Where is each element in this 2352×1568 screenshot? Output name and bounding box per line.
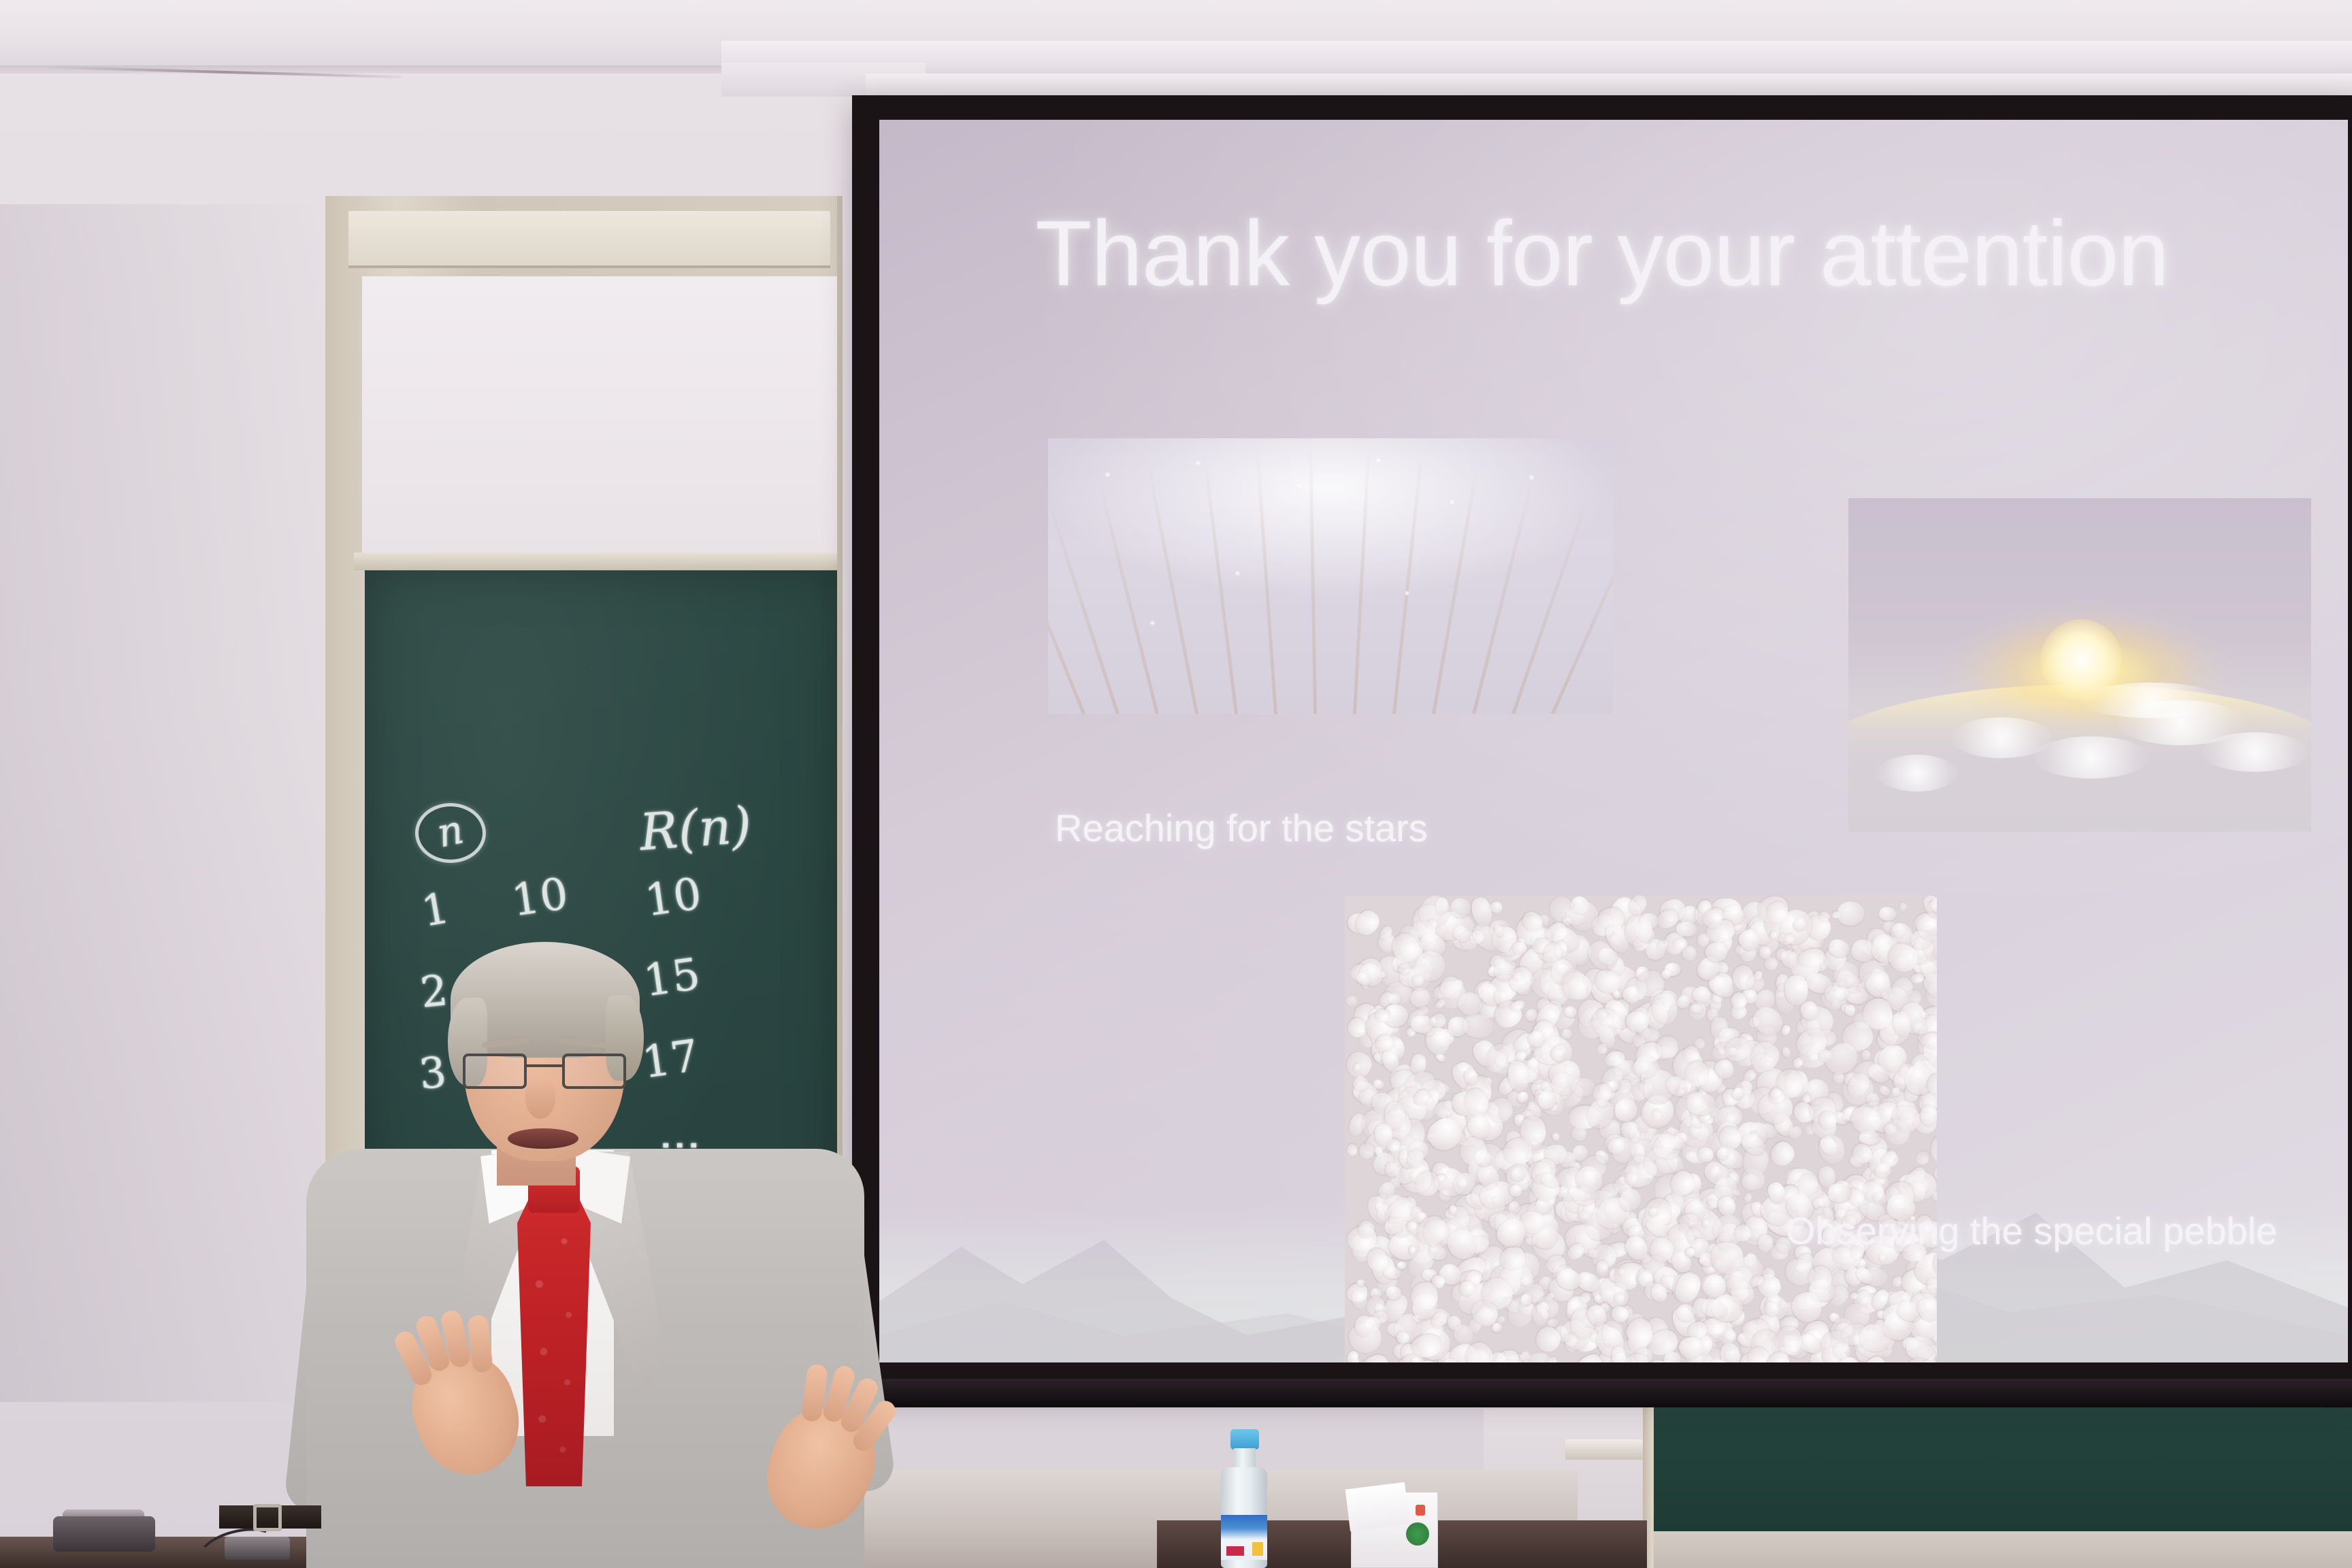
- bottle-label-yellow-block: [1252, 1542, 1263, 1556]
- slide-caption-observing-the-special-pebble: Observing the special pebble: [1786, 1209, 2277, 1253]
- chalk-header-n-label: n: [433, 806, 468, 856]
- speaker-mouth: [508, 1128, 578, 1149]
- speaker: [293, 932, 892, 1568]
- tissue-box-tab-icon: [1416, 1505, 1425, 1516]
- tissue-sheet: [1345, 1482, 1410, 1531]
- chalk-cell-mid-1: 10: [508, 869, 572, 927]
- glasses-lens-right: [562, 1053, 626, 1089]
- blackboard-divider-rail: [354, 553, 837, 570]
- speaker-belt-buckle: [253, 1504, 282, 1531]
- screen-bottom-bar: [852, 1379, 2352, 1407]
- chalk-header-rn: R(n): [638, 796, 754, 862]
- water-bottle: [1218, 1429, 1270, 1568]
- blackboard-top-rail: [348, 211, 830, 268]
- chalk-cell-rn-1: 10: [642, 869, 705, 927]
- slide-image-sunrise: [1848, 498, 2311, 832]
- projection-screen: Thank you for your attention: [852, 95, 2352, 1392]
- glasses-bridge: [527, 1064, 562, 1067]
- speaker-necktie: [517, 1180, 591, 1486]
- tissue-box-logo-icon: [1406, 1522, 1429, 1546]
- av-device: [53, 1516, 155, 1552]
- bottle-label-red-block: [1226, 1546, 1244, 1556]
- slide-image-forest: [1048, 438, 1613, 714]
- wall-shadow: [0, 204, 327, 1402]
- slide-image-pebbles: [1345, 896, 1937, 1362]
- speaker-nose: [525, 1078, 555, 1119]
- right-blackboard-ledge: [1565, 1439, 1654, 1460]
- blackboard-upper-panel: [362, 276, 837, 553]
- chalk-header-n-circled: n: [415, 803, 486, 863]
- lecture-hall-photo: n R(n) 1 10 10 2 15 3 17 ⋮ ⋮ Thank you f…: [0, 0, 2352, 1568]
- bottle-label: [1221, 1515, 1267, 1560]
- slide-caption-reaching-for-the-stars: Reaching for the stars: [1055, 806, 1428, 850]
- tissue-box: [1351, 1492, 1438, 1568]
- slide-title: Thank you for your attention: [879, 207, 2325, 299]
- bottle-cap: [1230, 1429, 1259, 1450]
- glasses-lens-left: [463, 1053, 527, 1089]
- right-blackboard-base: [1654, 1531, 2352, 1568]
- presentation-slide: Thank you for your attention: [879, 120, 2348, 1362]
